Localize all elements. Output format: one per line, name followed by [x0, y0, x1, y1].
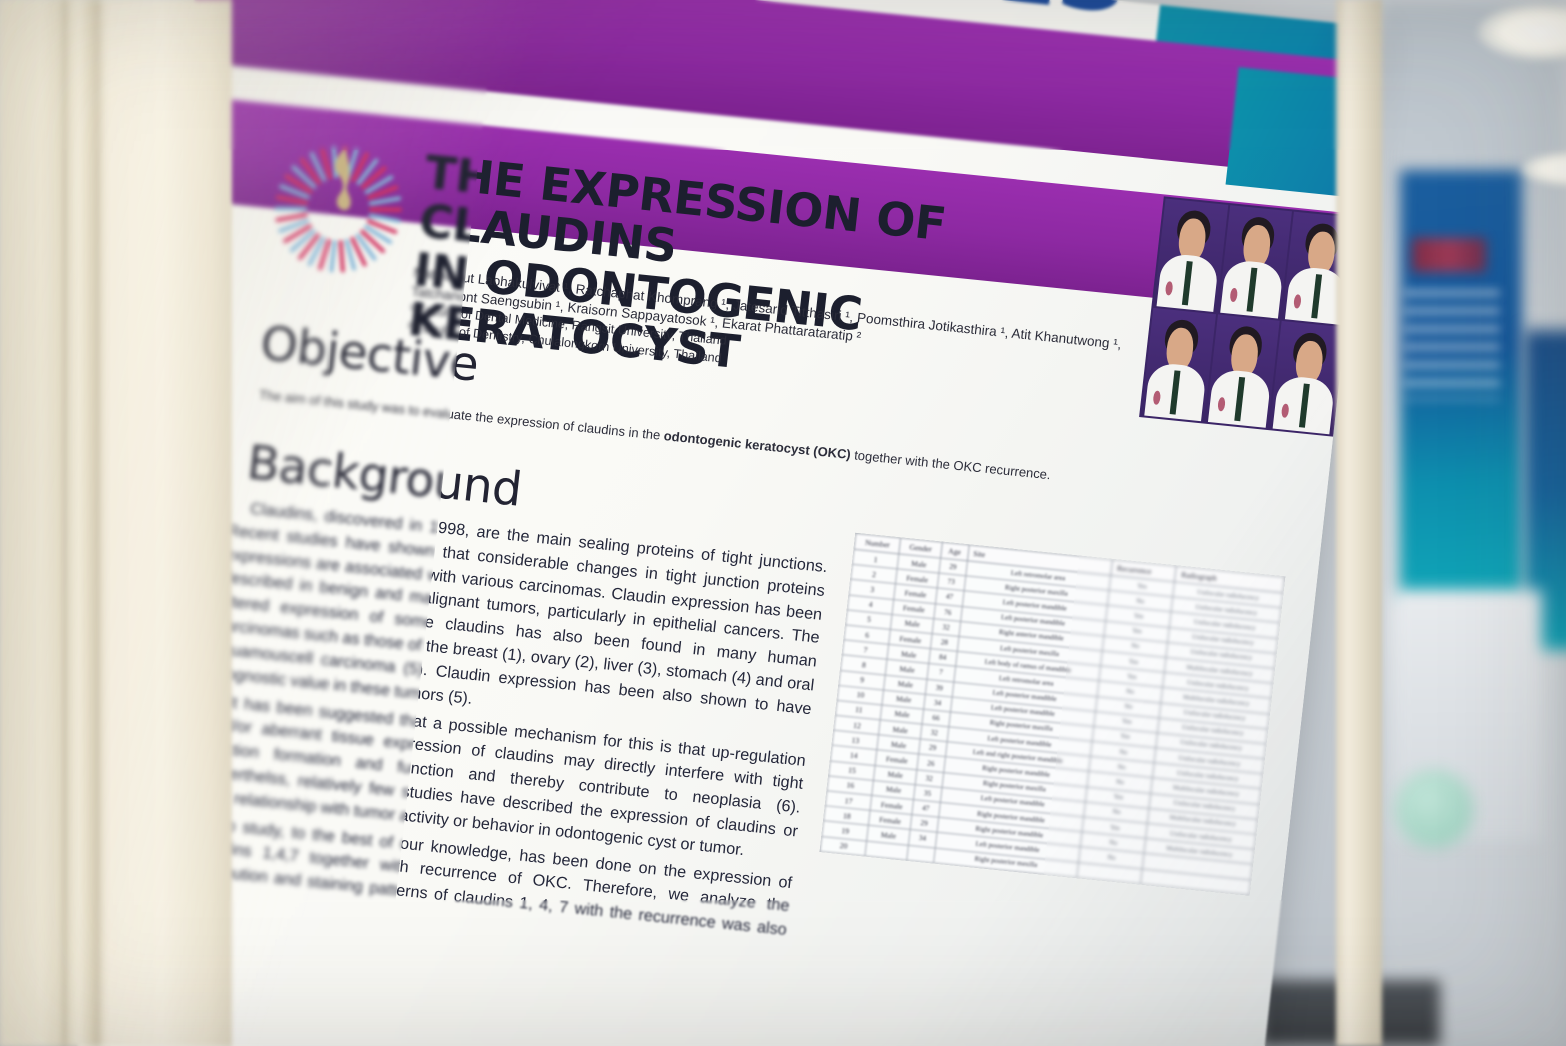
- author-headshot: [1154, 199, 1228, 313]
- patient-data-table: NumberGenderAgeSiteRecurrenceRadiograph …: [820, 533, 1286, 895]
- author-headshot: [1206, 314, 1280, 428]
- photograph-of-conference-poster: Ab013 THE EXPRESSION OF CLAUDINS IN ODON…: [0, 0, 1566, 1046]
- background-body: Claudins, discovered in 1998, are the ma…: [185, 496, 828, 971]
- objective-text-lead: The aim of this study was to evaluate th…: [258, 387, 664, 443]
- author-headshot: [1218, 205, 1292, 319]
- table-cell-age: [907, 845, 935, 863]
- poster-board: Ab013 THE EXPRESSION OF CLAUDINS IN ODON…: [57, 0, 1379, 1046]
- objective-text-tail: together with the OKC recurrence.: [850, 447, 1052, 482]
- rangsit-university-sunburst-logo: [265, 135, 411, 280]
- author-headshot: [1141, 308, 1215, 422]
- table-body: 1Male29Left retromolar areaYesUnilocular…: [820, 549, 1283, 894]
- objective-text-emphasis: odontogenic keratocyst (OKC): [663, 428, 852, 462]
- neighbouring-poster-title-bar: [1412, 238, 1486, 272]
- booth-frame-right: [1336, 0, 1382, 1046]
- table-cell-num: 20: [820, 836, 867, 856]
- author-headshot: [1270, 321, 1344, 435]
- table-cell-gen: [865, 841, 908, 860]
- background-object: [1395, 770, 1473, 848]
- neighbouring-poster-text: [1404, 290, 1500, 400]
- patient-data-table-wrapper: NumberGenderAgeSiteRecurrenceRadiograph …: [820, 533, 1286, 895]
- booth-frame-pillar-left: [0, 0, 232, 1046]
- author-photo-grid: [1139, 196, 1359, 436]
